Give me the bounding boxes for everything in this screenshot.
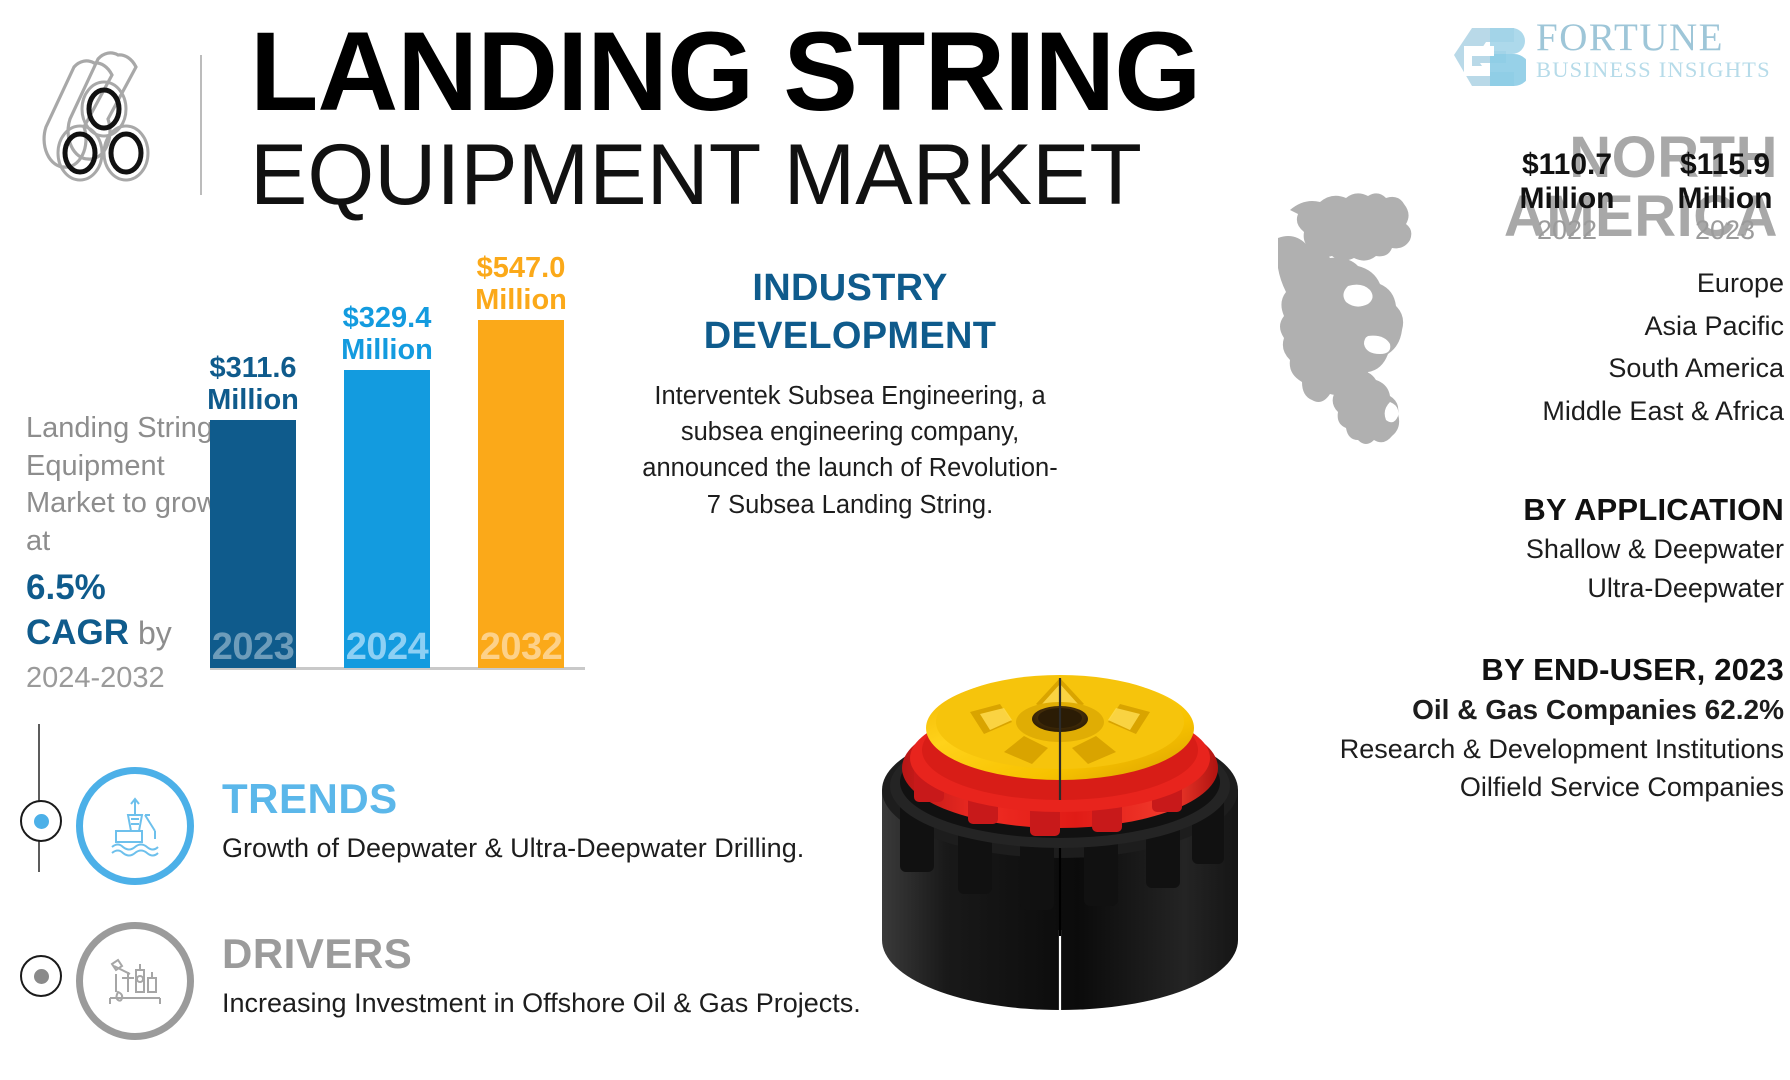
application-item-shallow-deepwater: Shallow & Deepwater bbox=[1224, 530, 1784, 568]
industry-development-title-line2: DEVELOPMENT bbox=[704, 315, 997, 357]
market-bar-chart: $311.6Million 2023 $329.4Million 2024 $5… bbox=[210, 290, 670, 690]
by-end-user-block: BY END-USER, 2023 Oil & Gas Companies 62… bbox=[1224, 650, 1784, 807]
cagr-line: 6.5% CAGR by 2024-2032 bbox=[26, 565, 226, 698]
na-figure-2023: $115.9 Million 2023 bbox=[1666, 148, 1784, 246]
application-item-ultra-deepwater: Ultra-Deepwater bbox=[1224, 569, 1784, 607]
region-item-south-america: South America bbox=[1224, 347, 1784, 390]
na-unit-2023: Million bbox=[1666, 182, 1784, 216]
end-user-item-oilfield-service: Oilfield Service Companies bbox=[1224, 768, 1784, 806]
na-year-2023: 2023 bbox=[1666, 215, 1784, 246]
bar-label-2032: $547.0Million bbox=[456, 253, 586, 316]
industry-development-block: INDUSTRY DEVELOPMENT Interventek Subsea … bbox=[640, 265, 1060, 523]
by-end-user-heading: BY END-USER, 2023 bbox=[1224, 650, 1784, 690]
drivers-title: DRIVERS bbox=[222, 933, 412, 975]
fb-monogram-icon bbox=[1450, 22, 1526, 88]
industry-development-body: Interventek Subsea Engineering, a subsea… bbox=[640, 378, 1060, 523]
pumpjack-icon bbox=[102, 948, 168, 1014]
fortune-business-insights-logo: FORTUNE BUSINESS INSIGHTS bbox=[1450, 18, 1780, 104]
trends-icon-bubble bbox=[76, 767, 194, 885]
title-line-1: LANDING STRING bbox=[250, 14, 1370, 130]
north-america-figures: $110.7 Million 2022 $115.9 Million 2023 bbox=[1484, 148, 1784, 246]
pipes-icon bbox=[28, 45, 168, 195]
landing-string-equipment-photo bbox=[840, 600, 1280, 1050]
brand-name: FORTUNE bbox=[1536, 18, 1780, 59]
brand-text: FORTUNE BUSINESS INSIGHTS bbox=[1536, 18, 1780, 83]
cagr-label: CAGR bbox=[26, 613, 129, 652]
timeline-node-trends bbox=[20, 800, 62, 842]
page-title: LANDING STRING EQUIPMENT MARKET bbox=[250, 14, 1370, 221]
brand-subtitle: BUSINESS INSIGHTS bbox=[1536, 56, 1780, 83]
na-year-2022: 2022 bbox=[1508, 215, 1626, 246]
region-item-middle-east-africa: Middle East & Africa bbox=[1224, 390, 1784, 433]
bar-label-2024: $329.4Million bbox=[322, 303, 452, 366]
region-item-asia-pacific: Asia Pacific bbox=[1224, 305, 1784, 348]
industry-development-title: INDUSTRY DEVELOPMENT bbox=[640, 265, 1060, 360]
na-unit-2022: Million bbox=[1508, 182, 1626, 216]
industry-development-title-line1: INDUSTRY bbox=[752, 267, 947, 309]
bar-rect-2032 bbox=[478, 320, 564, 668]
end-user-highlight: Oil & Gas Companies 62.2% bbox=[1224, 690, 1784, 730]
end-user-item-rnd: Research & Development Institutions bbox=[1224, 730, 1784, 768]
bar-year-2023: 2023 bbox=[210, 628, 296, 666]
timeline-rail bbox=[38, 724, 40, 872]
na-value-2022: $110.7 bbox=[1508, 148, 1626, 182]
region-item-europe: Europe bbox=[1224, 262, 1784, 305]
market-intro-text: Landing String Equipment Market to grow … bbox=[26, 410, 226, 561]
na-figure-2022: $110.7 Million 2022 bbox=[1508, 148, 1626, 246]
timeline-node-dot-drivers bbox=[34, 969, 49, 984]
bar-label-2023: $311.6Million bbox=[188, 353, 318, 416]
timeline-node-dot-trends bbox=[34, 814, 49, 829]
timeline-node-drivers bbox=[20, 955, 62, 997]
cagr-value: 6.5% bbox=[26, 568, 106, 607]
offshore-rig-icon bbox=[102, 793, 168, 859]
by-application-block: BY APPLICATION Shallow & Deepwater Ultra… bbox=[1224, 490, 1784, 607]
infographic-page: LANDING STRING EQUIPMENT MARKET FORTUNE … bbox=[0, 0, 1790, 1080]
drivers-icon-bubble bbox=[76, 922, 194, 1040]
title-line-2: EQUIPMENT MARKET bbox=[250, 130, 1370, 220]
cagr-by: by bbox=[138, 615, 172, 651]
bar-rect-2024 bbox=[344, 370, 430, 668]
na-value-2023: $115.9 bbox=[1666, 148, 1784, 182]
header-divider bbox=[200, 55, 202, 195]
bar-year-2024: 2024 bbox=[344, 628, 430, 666]
bar-year-2032: 2032 bbox=[478, 628, 564, 666]
market-intro-block: Landing String Equipment Market to grow … bbox=[26, 410, 226, 697]
trends-body: Growth of Deepwater & Ultra-Deepwater Dr… bbox=[222, 832, 804, 864]
cagr-range: 2024-2032 bbox=[26, 662, 165, 694]
by-application-heading: BY APPLICATION bbox=[1224, 490, 1784, 530]
drivers-body: Increasing Investment in Offshore Oil & … bbox=[222, 987, 861, 1019]
other-regions-list: Europe Asia Pacific South America Middle… bbox=[1224, 262, 1784, 433]
trends-title: TRENDS bbox=[222, 778, 398, 820]
